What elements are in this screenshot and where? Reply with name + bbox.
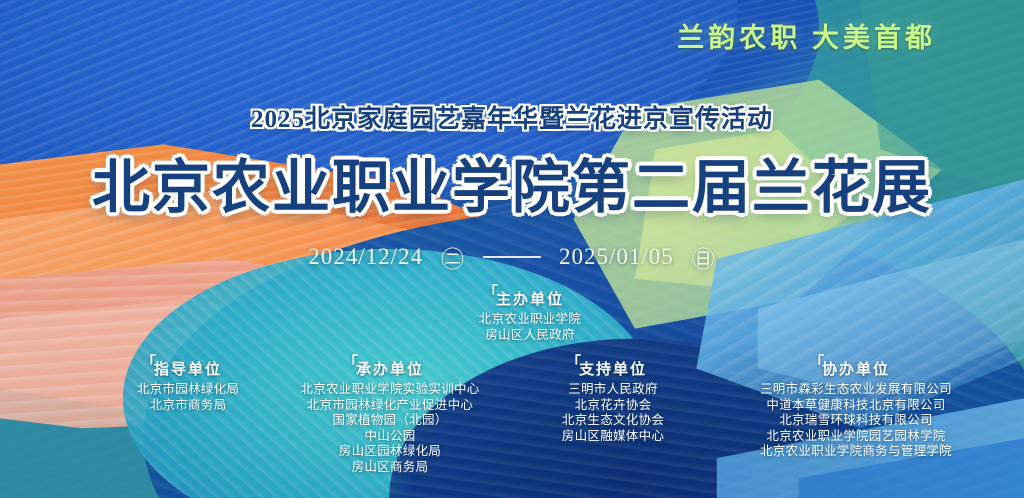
poster-slogan: 兰韵农职 大美首都	[677, 16, 936, 55]
organizer-line: 房山区园林绿化局	[258, 444, 522, 460]
organizer-block-cooperation: 「 协办单位 三明市森彩生态农业发展有限公司 中道本草健康科技北京有限公司 北京…	[700, 358, 1012, 460]
organizer-heading-cooperation: 「 协办单位	[822, 358, 890, 379]
organizer-line: 房山区商务局	[258, 460, 522, 476]
organizer-line: 中道本草健康科技北京有限公司	[700, 398, 1012, 414]
poster-main-title: 北京农业职业学院第二届兰花展	[0, 140, 1024, 224]
organizer-line: 三明市人民政府	[508, 382, 718, 398]
event-date-range: 2024/12/24 ㊁ 2025/01/05 ㊐	[0, 240, 1024, 274]
organizer-heading-host: 「 主办单位	[496, 288, 564, 309]
organizer-heading-text: 指导单位	[154, 362, 222, 378]
organizer-heading-text: 支持单位	[579, 362, 647, 378]
organizer-line: 北京农业职业学院实验实训中心	[258, 382, 522, 398]
organizer-line: 北京瑞雪环球科技有限公司	[700, 413, 1012, 429]
corner-bracket-icon: 「	[483, 281, 500, 302]
organizer-line: 北京农业职业学院	[432, 312, 628, 328]
organizer-heading-text: 承办单位	[356, 362, 424, 378]
organizer-line: 北京农业职业学院商务与管理学院	[700, 444, 1012, 460]
organizer-heading-text: 协办单位	[822, 362, 890, 378]
poster-content-layer: 兰韵农职 大美首都 2025北京家庭园艺嘉年华暨兰花进京宣传活动 北京农业职业学…	[0, 0, 1024, 498]
organizer-block-executive: 「 承办单位 北京农业职业学院实验实训中心 北京市园林绿化产业促进中心 国家植物…	[258, 358, 522, 475]
event-poster: 兰韵农职 大美首都 2025北京家庭园艺嘉年华暨兰花进京宣传活动 北京农业职业学…	[0, 0, 1024, 498]
organizer-line: 北京市园林绿化产业促进中心	[258, 398, 522, 414]
corner-bracket-icon: 「	[809, 351, 826, 372]
corner-bracket-icon: 「	[566, 351, 583, 372]
organizer-heading-support: 「 支持单位	[579, 358, 647, 379]
date-start-weekday-icon: ㊁	[441, 240, 465, 274]
organizer-heading-text: 主办单位	[496, 292, 564, 308]
organizer-line: 三明市森彩生态农业发展有限公司	[700, 382, 1012, 398]
date-end-weekday-icon: ㊐	[692, 240, 716, 274]
organizer-line: 中山公园	[258, 429, 522, 445]
organizer-line: 北京生态文化协会	[508, 413, 718, 429]
date-end: 2025/01/05	[559, 244, 674, 270]
corner-bracket-icon: 「	[141, 351, 158, 372]
date-start: 2024/12/24	[308, 244, 423, 270]
organizer-line: 北京农业职业学院园艺园林学院	[700, 429, 1012, 445]
corner-bracket-icon: 「	[343, 351, 360, 372]
date-range-dash	[483, 256, 541, 258]
organizer-heading-executive: 「 承办单位	[356, 358, 424, 379]
organizer-line: 国家植物园（北园）	[258, 413, 522, 429]
organizer-block-host: 「 主办单位 北京农业职业学院 房山区人民政府	[432, 288, 628, 343]
poster-subtitle: 2025北京家庭园艺嘉年华暨兰花进京宣传活动	[0, 99, 1024, 135]
organizer-line: 房山区融媒体中心	[508, 429, 718, 445]
organizer-line: 房山区人民政府	[432, 328, 628, 344]
organizer-block-support: 「 支持单位 三明市人民政府 北京花卉协会 北京生态文化协会 房山区融媒体中心	[508, 358, 718, 444]
organizer-heading-guidance: 「 指导单位	[154, 358, 222, 379]
organizer-line: 北京花卉协会	[508, 398, 718, 414]
